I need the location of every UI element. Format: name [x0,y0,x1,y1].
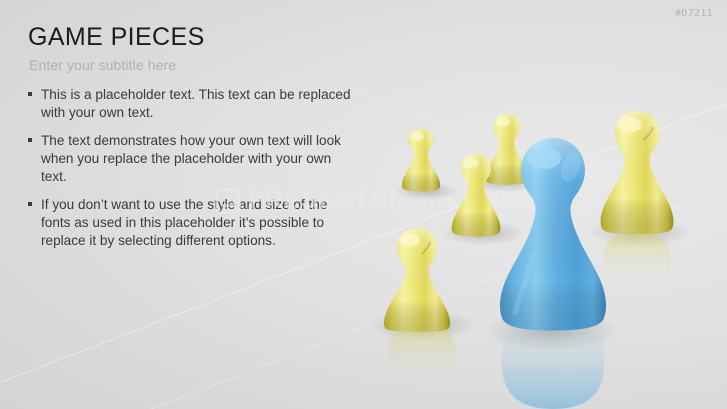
pawn-back-left-small [399,128,443,192]
pawn-front-left [379,227,455,331]
bullet-square-icon [28,202,32,206]
bullet-list: This is a placeholder text. This text ca… [28,86,358,260]
list-item-text: If you don’t want to use the style and s… [41,196,358,249]
bullet-square-icon [28,138,32,142]
page-title: GAME PIECES [28,24,205,52]
list-item[interactable]: If you don’t want to use the style and s… [28,196,358,249]
list-item-text: This is a placeholder text. This text ca… [41,86,358,121]
pawn-middle [448,153,504,237]
slide-canvas: #D7211 GAME PIECES Enter your subtitle h… [0,0,727,409]
pawn-reflection [498,325,608,409]
pawn-center-blue [497,137,609,333]
list-item-text: The text demonstrates how your own text … [41,132,358,185]
list-item[interactable]: This is a placeholder text. This text ca… [28,86,358,121]
bullet-square-icon [28,92,32,96]
list-item[interactable]: The text demonstrates how your own text … [28,132,358,185]
page-subtitle[interactable]: Enter your subtitle here [29,57,176,73]
document-id: #D7211 [675,8,713,19]
pawn-reflection [598,232,676,278]
